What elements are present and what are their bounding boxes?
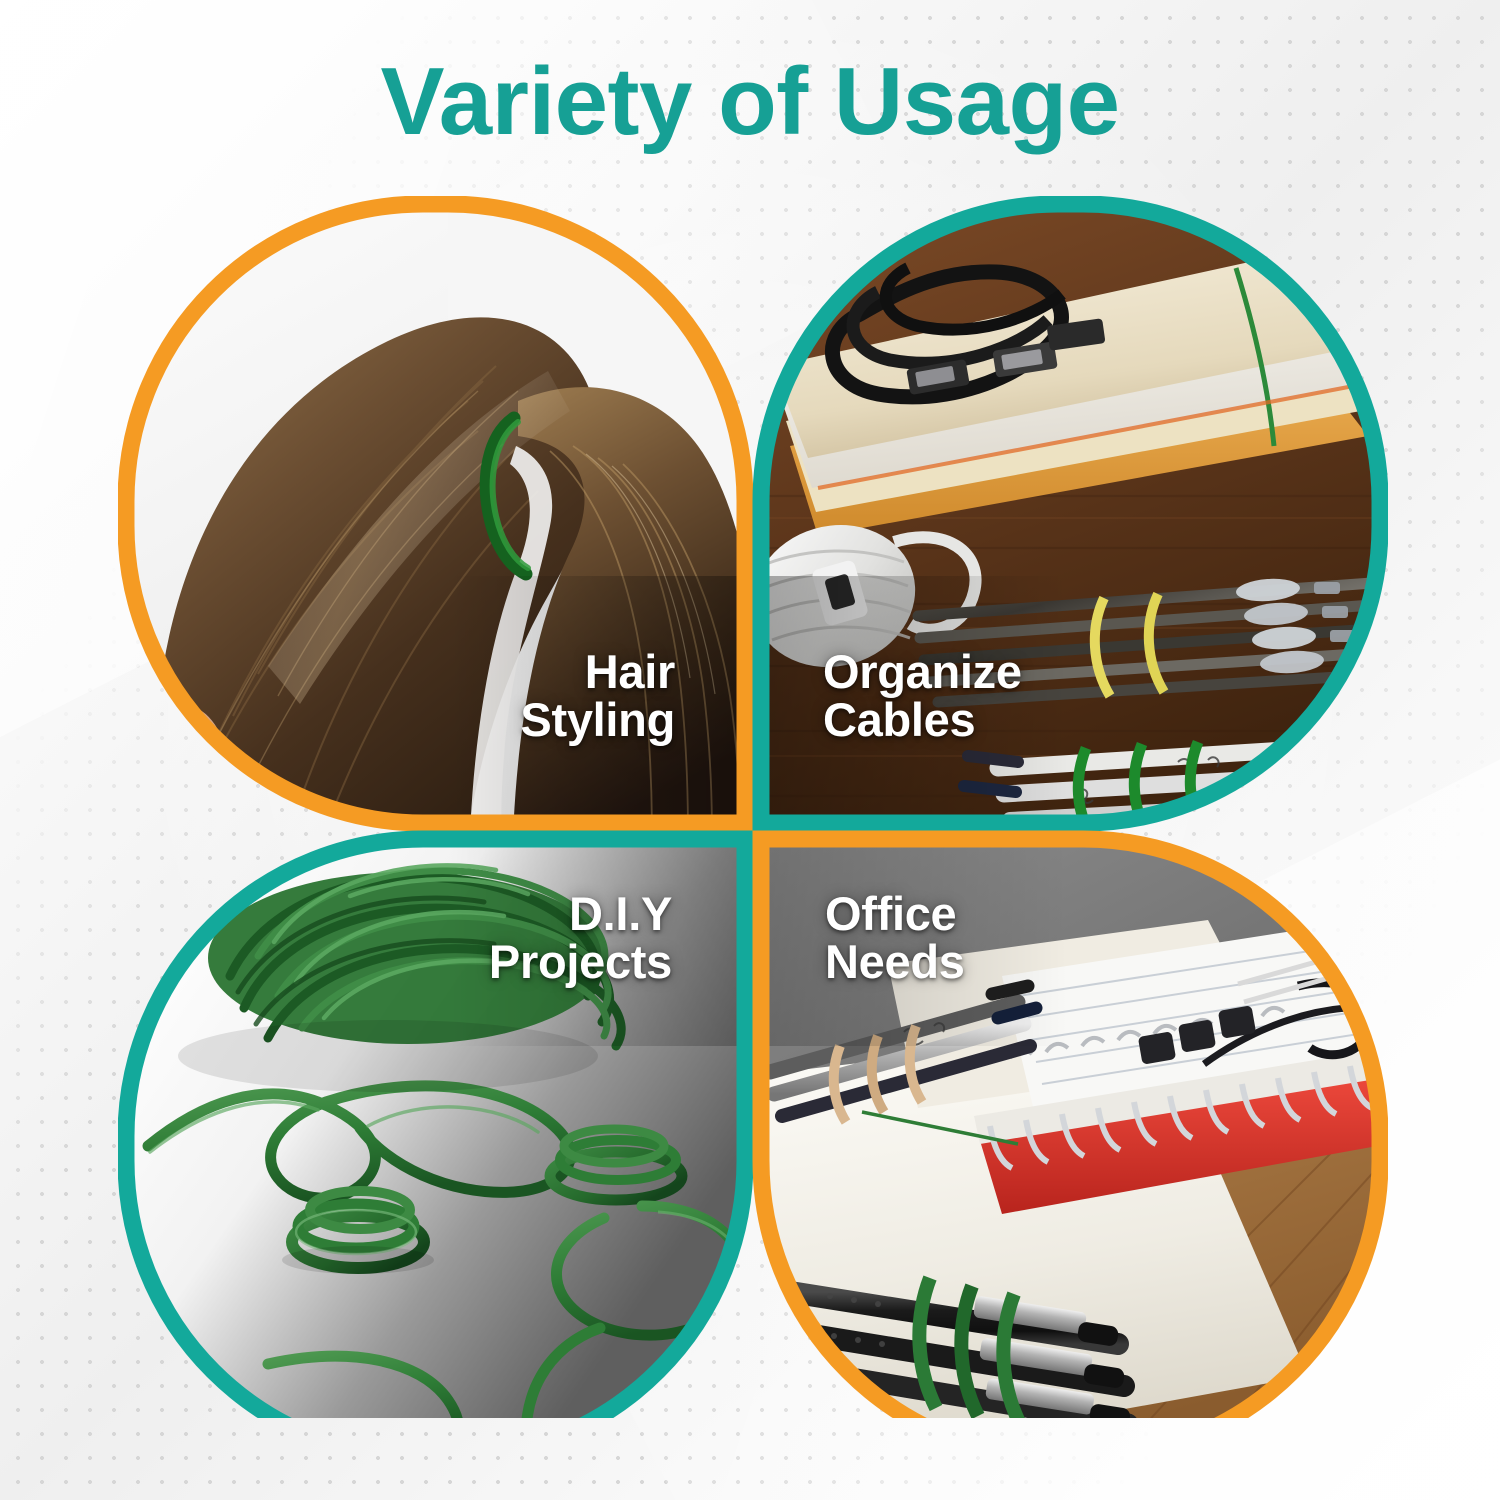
infographic-canvas: Variety of Usage: [0, 0, 1500, 1500]
quadrant-office-needs[interactable]: [748, 826, 1388, 1418]
page-title: Variety of Usage: [0, 52, 1500, 153]
usage-quadrant-flower: [118, 196, 1388, 1418]
quadrant-diy-projects[interactable]: [118, 826, 758, 1418]
quadrant-hair-styling[interactable]: [118, 196, 758, 836]
quadrant-organize-cables[interactable]: [736, 196, 1388, 838]
